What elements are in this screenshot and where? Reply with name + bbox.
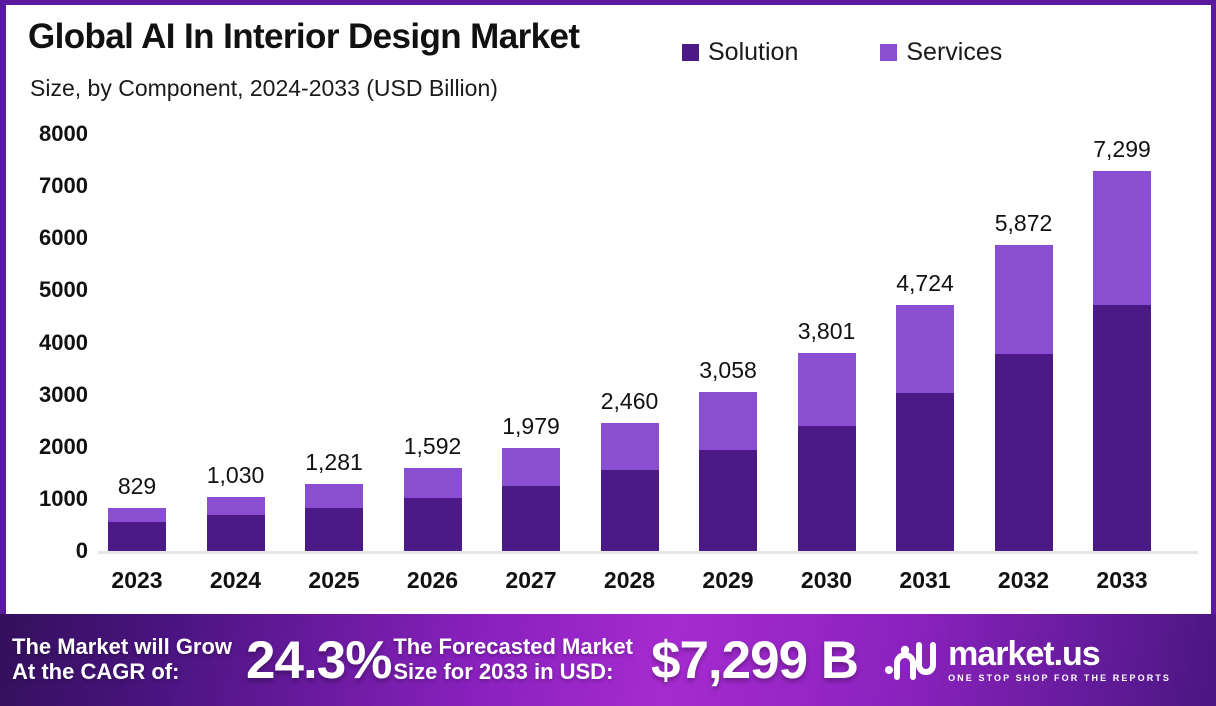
bar-segment-solution[interactable] <box>699 450 757 551</box>
x-axis-tick: 2024 <box>210 567 261 594</box>
bar-value-label: 4,724 <box>896 270 954 297</box>
cagr-caption-line2: At the CAGR of: <box>12 660 232 685</box>
bar-segment-solution[interactable] <box>207 515 265 551</box>
bar-segment-services[interactable] <box>699 392 757 450</box>
page-title: Global AI In Interior Design Market <box>28 17 579 57</box>
bar-value-label: 3,058 <box>699 357 757 384</box>
logo-name: market.us <box>948 637 1171 671</box>
forecast-value: $7,299 B <box>651 630 858 691</box>
x-axis-tick: 2033 <box>1096 567 1147 594</box>
y-axis-tick: 0 <box>76 538 88 564</box>
bar-segment-services[interactable] <box>502 448 560 486</box>
bar-segment-services[interactable] <box>1093 171 1151 305</box>
chart-plot-area: 800070006000500040003000200010000 829202… <box>6 115 1211 605</box>
x-axis-tick: 2027 <box>505 567 556 594</box>
y-axis-tick: 2000 <box>39 434 88 460</box>
forecast-caption-line2: Size for 2033 in USD: <box>393 660 633 685</box>
x-axis-tick: 2031 <box>899 567 950 594</box>
y-axis-tick: 4000 <box>39 330 88 356</box>
bar-segment-solution[interactable] <box>995 354 1053 551</box>
bar-segment-solution[interactable] <box>1093 305 1151 551</box>
legend-item-solution[interactable]: Solution <box>682 38 798 67</box>
chart-legend: Solution Services <box>682 38 1002 67</box>
bar-value-label: 829 <box>118 473 156 500</box>
bar-column[interactable]: 3,8012030 <box>798 353 856 551</box>
forecast-block: The Forecasted Market Size for 2033 in U… <box>391 630 858 691</box>
bar-value-label: 1,281 <box>305 449 363 476</box>
market-us-logo[interactable]: market.us ONE STOP SHOP FOR THE REPORTS <box>884 637 1171 683</box>
bar-value-label: 7,299 <box>1093 136 1151 163</box>
bar-column[interactable]: 1,9792027 <box>502 448 560 551</box>
bar-column[interactable]: 8292023 <box>108 508 166 551</box>
y-axis-tick: 5000 <box>39 277 88 303</box>
legend-label-solution: Solution <box>708 38 798 67</box>
y-axis-tick: 8000 <box>39 121 88 147</box>
infographic-frame: Global AI In Interior Design Market Size… <box>0 0 1216 706</box>
market-us-logo-icon <box>884 639 940 681</box>
forecast-caption: The Forecasted Market Size for 2033 in U… <box>393 635 633 684</box>
x-axis-tick: 2025 <box>308 567 359 594</box>
x-axis-baseline <box>98 551 1198 554</box>
y-axis-tick: 3000 <box>39 382 88 408</box>
bar-segment-services[interactable] <box>896 305 954 393</box>
bar-column[interactable]: 7,2992033 <box>1093 171 1151 551</box>
bar-segment-services[interactable] <box>207 497 265 515</box>
cagr-block: The Market will Grow At the CAGR of: 24.… <box>0 630 391 691</box>
bar-segment-solution[interactable] <box>896 393 954 551</box>
x-axis-tick: 2030 <box>801 567 852 594</box>
bar-segment-services[interactable] <box>108 508 166 522</box>
bar-column[interactable]: 1,5922026 <box>404 468 462 551</box>
y-axis-tick: 7000 <box>39 173 88 199</box>
y-axis-tick: 6000 <box>39 225 88 251</box>
square-swatch-icon <box>682 44 699 61</box>
cagr-caption: The Market will Grow At the CAGR of: <box>12 635 232 684</box>
bar-segment-solution[interactable] <box>601 470 659 551</box>
chart-header: Global AI In Interior Design Market Size… <box>6 5 1211 115</box>
page-subtitle: Size, by Component, 2024-2033 (USD Billi… <box>30 75 498 102</box>
x-axis-tick: 2023 <box>111 567 162 594</box>
legend-label-services: Services <box>906 38 1002 67</box>
bar-group: 82920231,03020241,28120251,59220261,9792… <box>102 115 1200 551</box>
bar-segment-services[interactable] <box>601 423 659 470</box>
bar-value-label: 2,460 <box>601 388 659 415</box>
bar-column[interactable]: 5,8722032 <box>995 245 1053 551</box>
logo-text: market.us ONE STOP SHOP FOR THE REPORTS <box>948 637 1171 683</box>
y-axis: 800070006000500040003000200010000 <box>6 115 96 555</box>
forecast-caption-line1: The Forecasted Market <box>393 635 633 660</box>
y-axis-tick: 1000 <box>39 486 88 512</box>
cagr-value: 24.3% <box>246 630 391 691</box>
bar-segment-solution[interactable] <box>108 522 166 551</box>
bar-segment-services[interactable] <box>798 353 856 426</box>
bar-segment-services[interactable] <box>305 484 363 507</box>
bar-segment-solution[interactable] <box>798 426 856 551</box>
bar-column[interactable]: 1,2812025 <box>305 484 363 551</box>
x-axis-tick: 2032 <box>998 567 1049 594</box>
bar-value-label: 5,872 <box>995 210 1053 237</box>
summary-banner: The Market will Grow At the CAGR of: 24.… <box>0 614 1216 706</box>
x-axis-tick: 2026 <box>407 567 458 594</box>
bar-column[interactable]: 2,4602028 <box>601 423 659 551</box>
bar-value-label: 1,979 <box>502 413 560 440</box>
bar-value-label: 1,030 <box>207 462 265 489</box>
bar-value-label: 3,801 <box>798 318 856 345</box>
bar-segment-solution[interactable] <box>305 508 363 551</box>
x-axis-tick: 2028 <box>604 567 655 594</box>
x-axis-tick: 2029 <box>702 567 753 594</box>
bar-segment-solution[interactable] <box>502 486 560 551</box>
bar-column[interactable]: 3,0582029 <box>699 392 757 551</box>
logo-tagline: ONE STOP SHOP FOR THE REPORTS <box>948 674 1171 683</box>
cagr-caption-line1: The Market will Grow <box>12 635 232 660</box>
square-swatch-icon <box>880 44 897 61</box>
legend-item-services[interactable]: Services <box>880 38 1002 67</box>
bar-segment-services[interactable] <box>404 468 462 498</box>
bar-segment-solution[interactable] <box>404 498 462 551</box>
bar-column[interactable]: 1,0302024 <box>207 497 265 551</box>
bar-column[interactable]: 4,7242031 <box>896 305 954 551</box>
bar-segment-services[interactable] <box>995 245 1053 354</box>
bar-value-label: 1,592 <box>404 433 462 460</box>
